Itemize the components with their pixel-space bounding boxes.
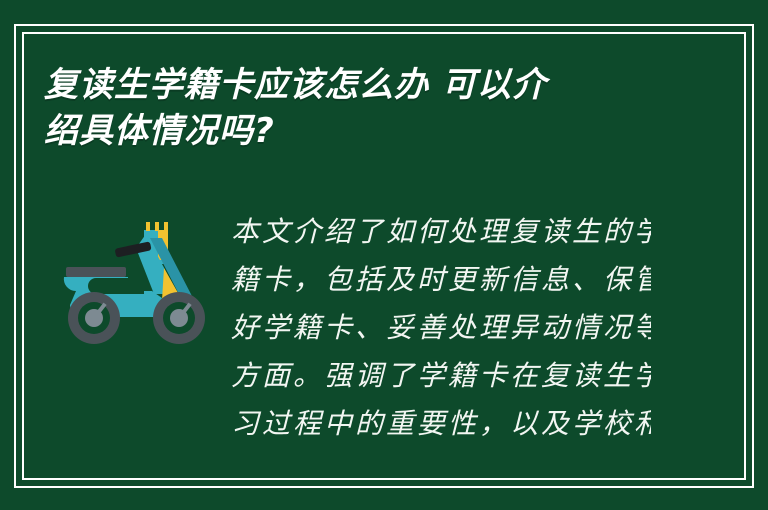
scooter-mirror-left [146, 222, 150, 231]
scooter-illustration [58, 208, 218, 358]
page-title-line-1: 复读生学籍卡应该怎么办 可以介 [44, 62, 674, 108]
article-summary: 本文介绍了如何处理复读生的学 籍卡，包括及时更新信息、保管 好学籍卡、妥善处理异… [231, 208, 651, 498]
page-title-line-2: 绍具体情况吗? [44, 108, 674, 154]
scooter-rack [66, 267, 126, 277]
article-summary-line-3: 好学籍卡、妥善处理异动情况等 [231, 304, 651, 352]
page-title: 复读生学籍卡应该怎么办 可以介 绍具体情况吗? [44, 62, 674, 154]
article-summary-line-1: 本文介绍了如何处理复读生的学 [231, 208, 651, 256]
scooter-icon [58, 208, 218, 358]
scooter-mirror-far [164, 222, 168, 231]
article-summary-line-4: 方面。强调了学籍卡在复读生学 [231, 352, 651, 400]
article-summary-line-5: 习过程中的重要性，以及学校和 [231, 400, 651, 448]
article-summary-line-2: 籍卡，包括及时更新信息、保管 [231, 256, 651, 304]
scooter-body-cutout [88, 278, 144, 294]
scooter-mirror-right [155, 222, 159, 231]
